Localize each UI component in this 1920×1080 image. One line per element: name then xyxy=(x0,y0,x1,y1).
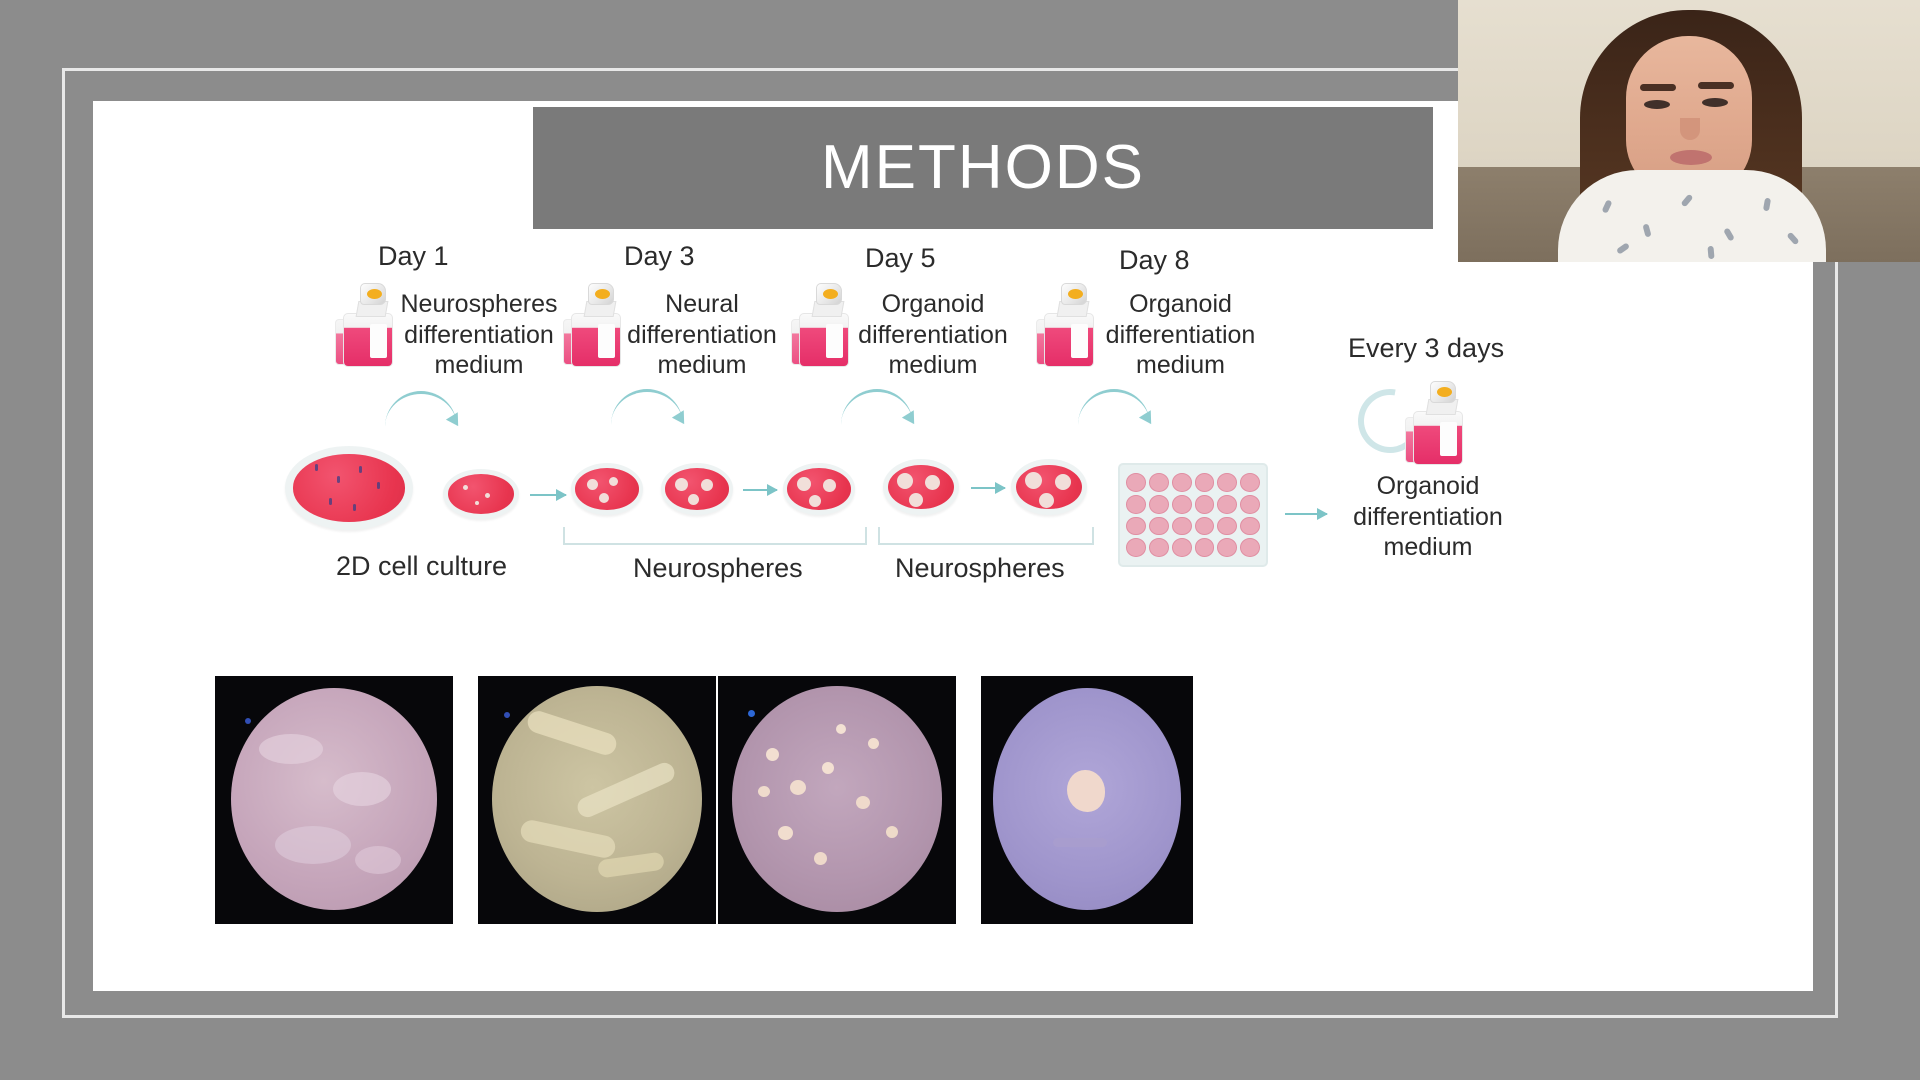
culture-flask-icon-1 xyxy=(343,283,397,367)
dish-passage xyxy=(443,469,519,519)
plate-well xyxy=(1149,495,1169,514)
medium-line: Neurospheres xyxy=(399,289,559,320)
plate-well xyxy=(1126,495,1146,514)
flow-arrow-3 xyxy=(971,487,1005,489)
medium-line: medium xyxy=(853,350,1013,381)
micrograph-row xyxy=(93,676,1813,956)
maintenance-frequency-label: Every 3 days xyxy=(1348,333,1504,364)
culture-flask-icon-3 xyxy=(799,283,853,367)
stage-bracket-2 xyxy=(878,527,1094,545)
plate-well xyxy=(1240,538,1260,557)
plate-well xyxy=(1195,538,1215,557)
plate-well xyxy=(1217,517,1237,536)
micrograph-2d-cell-culture xyxy=(215,676,453,924)
plate-well xyxy=(1217,538,1237,557)
plate-well xyxy=(1195,473,1215,492)
workflow-diagram: Day 1 Neurospheres differentiation mediu… xyxy=(93,241,1813,661)
medium-label-3: Organoid differentiation medium xyxy=(853,289,1013,381)
medium-line: differentiation xyxy=(399,320,559,351)
stage-caption-2: Neurospheres xyxy=(633,553,803,584)
plate-well xyxy=(1126,517,1146,536)
medium-line: Organoid xyxy=(1328,471,1528,502)
maintenance-medium-label: Organoid differentiation medium xyxy=(1328,471,1528,563)
transition-arrow-4 xyxy=(1078,389,1150,432)
plate-well xyxy=(1149,473,1169,492)
medium-line: medium xyxy=(627,350,777,381)
plate-well xyxy=(1172,473,1192,492)
culture-flask-icon-2 xyxy=(571,283,625,367)
plate-well xyxy=(1195,517,1215,536)
day-label-3: Day 5 xyxy=(865,243,936,274)
stage-caption-3: Neurospheres xyxy=(895,553,1065,584)
transition-arrow-2 xyxy=(611,389,683,432)
presenter-mouth xyxy=(1670,150,1712,165)
presenter-shirt xyxy=(1558,170,1826,262)
well-plate-24 xyxy=(1118,463,1268,567)
plate-well xyxy=(1217,473,1237,492)
plate-well xyxy=(1195,495,1215,514)
medium-line: medium xyxy=(399,350,559,381)
dish-neurosphere-a1 xyxy=(571,463,643,515)
day-label-4: Day 8 xyxy=(1119,245,1190,276)
medium-line: medium xyxy=(1098,350,1263,381)
plate-well xyxy=(1240,473,1260,492)
medium-label-4: Organoid differentiation medium xyxy=(1098,289,1263,381)
day-label-2: Day 3 xyxy=(624,241,695,272)
medium-label-2: Neural differentiation medium xyxy=(627,289,777,381)
flow-arrow-1 xyxy=(530,494,566,496)
stage-bracket-1 xyxy=(563,527,867,545)
flow-arrow-4 xyxy=(1285,513,1327,515)
dish-neurosphere-b1 xyxy=(883,459,959,515)
presenter-webcam[interactable] xyxy=(1458,0,1920,262)
medium-line: Organoid xyxy=(1098,289,1263,320)
day-label-1: Day 1 xyxy=(378,241,449,272)
medium-line: differentiation xyxy=(1328,502,1528,533)
stage-caption-1: 2D cell culture xyxy=(336,551,507,582)
presenter-nose xyxy=(1680,118,1700,140)
dish-neurosphere-a3 xyxy=(783,463,855,515)
medium-line: Neural xyxy=(627,289,777,320)
plate-well xyxy=(1240,495,1260,514)
plate-well xyxy=(1126,538,1146,557)
micrograph-neural-network xyxy=(478,676,716,924)
culture-flask-icon-4 xyxy=(1044,283,1098,367)
plate-well xyxy=(1172,538,1192,557)
plate-well xyxy=(1217,495,1237,514)
plate-well xyxy=(1149,538,1169,557)
medium-line: differentiation xyxy=(1098,320,1263,351)
transition-arrow-3 xyxy=(841,389,913,432)
medium-line: differentiation xyxy=(853,320,1013,351)
flow-arrow-2 xyxy=(743,489,777,491)
plate-well xyxy=(1172,517,1192,536)
dish-neurosphere-a2 xyxy=(661,463,733,515)
medium-line: Organoid xyxy=(853,289,1013,320)
plate-well xyxy=(1126,473,1146,492)
medium-label-1: Neurospheres differentiation medium xyxy=(399,289,559,381)
dish-2d-culture xyxy=(285,446,413,530)
transition-arrow-1 xyxy=(385,391,457,434)
micrograph-neurospheres xyxy=(718,676,956,924)
plate-well xyxy=(1149,517,1169,536)
page-title: METHODS xyxy=(821,137,1145,199)
plate-well xyxy=(1172,495,1192,514)
medium-line: medium xyxy=(1328,532,1528,563)
dish-neurosphere-b2 xyxy=(1011,459,1087,515)
medium-line: differentiation xyxy=(627,320,777,351)
culture-flask-icon-5 xyxy=(1413,381,1467,465)
slide-title-bar: METHODS xyxy=(533,107,1433,229)
micrograph-organoid xyxy=(981,676,1193,924)
plate-well xyxy=(1240,517,1260,536)
